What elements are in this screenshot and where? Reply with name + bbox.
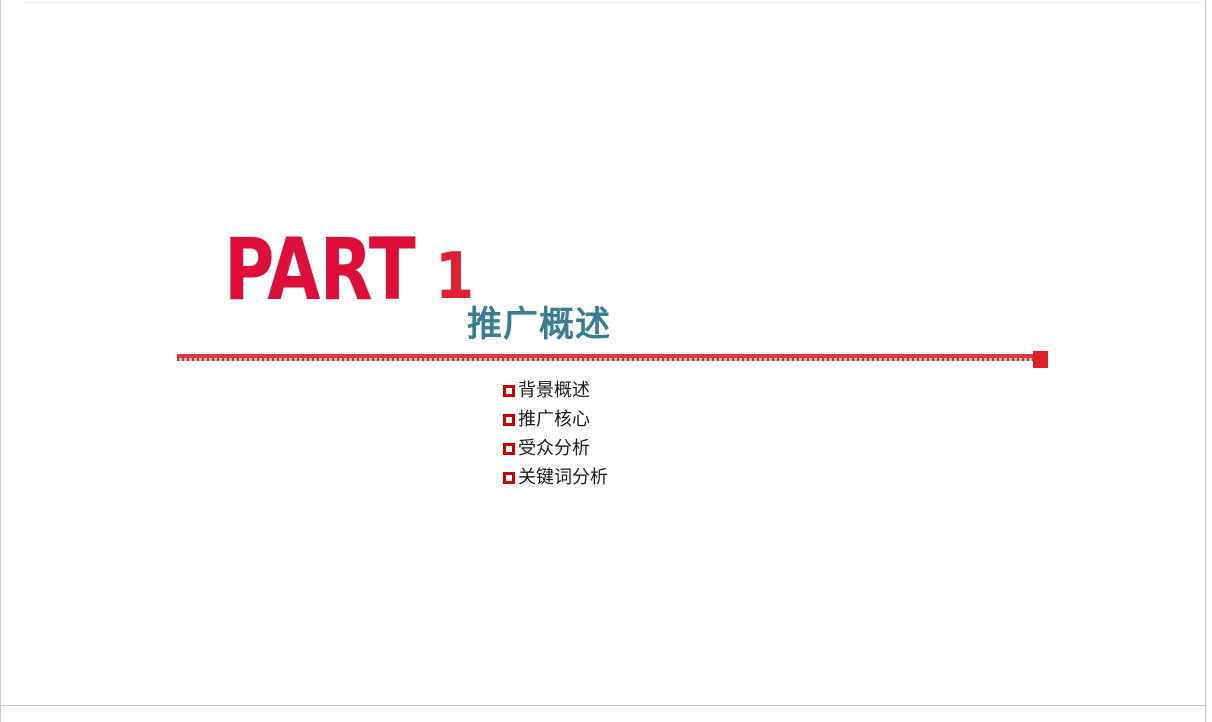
hollow-square-bullet-icon	[503, 414, 515, 426]
list-item-label: 关键词分析	[518, 468, 608, 488]
list-item-label: 受众分析	[518, 439, 590, 459]
divider-dotted-line	[177, 358, 1033, 361]
hollow-square-bullet-icon	[503, 385, 515, 397]
list-item: 背景概述	[503, 376, 608, 405]
agenda-bullet-list: 背景概述 推广核心 受众分析 关键词分析	[503, 376, 608, 492]
slide-frame-bottom-edge	[0, 705, 1206, 706]
list-item: 关键词分析	[503, 463, 608, 492]
page-title: 推广概述	[467, 308, 611, 343]
part-label: PART	[224, 238, 415, 303]
list-item-label: 背景概述	[518, 381, 590, 401]
list-item-label: 推广核心	[518, 410, 590, 430]
slide-frame-left-edge	[0, 0, 1, 722]
divider-rule	[177, 354, 1033, 362]
slide-canvas: PART 1 推广概述 背景概述 推广核心 受众分析 关键词分析	[0, 0, 1212, 722]
slide-frame-top-edge	[22, 2, 1205, 3]
divider-end-cap-square	[1033, 351, 1048, 368]
hollow-square-bullet-icon	[503, 472, 515, 484]
hollow-square-bullet-icon	[503, 443, 515, 455]
part-number: 1	[435, 253, 474, 303]
part-lockup: PART 1	[224, 238, 479, 303]
list-item: 推广核心	[503, 405, 608, 434]
list-item: 受众分析	[503, 434, 608, 463]
slide-frame-right-edge	[1205, 0, 1206, 722]
